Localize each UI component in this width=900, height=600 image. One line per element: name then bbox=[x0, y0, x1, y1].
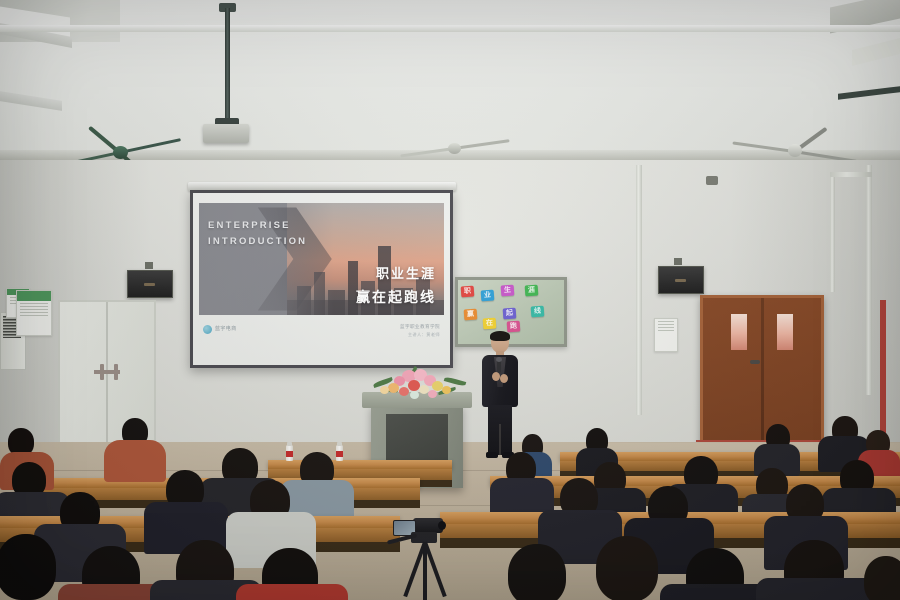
wall-bracket-right bbox=[706, 176, 718, 185]
door-window-right bbox=[777, 314, 793, 350]
presenter bbox=[478, 332, 522, 460]
speaker-bracket-left bbox=[145, 262, 153, 269]
water-bottle bbox=[286, 442, 293, 461]
audience-head bbox=[508, 544, 566, 600]
door-window-left bbox=[731, 314, 747, 350]
cutout-char: 赢 bbox=[464, 309, 478, 321]
ceiling-cornice bbox=[0, 25, 900, 32]
slide-footer-institution: 蓝宇职业教育学院 bbox=[400, 324, 440, 330]
cutout-char: 业 bbox=[481, 290, 495, 302]
door-split-right bbox=[761, 298, 764, 444]
wall-pipe-horizontal bbox=[830, 172, 872, 177]
presenter-hand-right bbox=[500, 374, 508, 383]
door-push-bar bbox=[94, 370, 120, 374]
notice-poster-2 bbox=[16, 290, 52, 336]
screen-surface: ENTERPRISE INTRODUCTION 职业生涯 赢在起跑线 蓝宇电商 … bbox=[193, 193, 450, 365]
cutout-char: 跑 bbox=[507, 321, 521, 333]
wall-pipe-vertical-c bbox=[830, 172, 835, 292]
presenter-hair bbox=[490, 331, 510, 341]
projector-screen: ENTERPRISE INTRODUCTION 职业生涯 赢在起跑线 蓝宇电商 … bbox=[190, 190, 453, 368]
slide-title-en-line2: INTRODUCTION bbox=[208, 236, 307, 247]
notice-poster-3 bbox=[654, 318, 678, 352]
speaker-bracket-right bbox=[674, 258, 682, 265]
water-bottle bbox=[336, 442, 343, 461]
presenter-shoe-left bbox=[486, 452, 498, 458]
cutout-char: 生 bbox=[501, 285, 515, 297]
presentation-slide: ENTERPRISE INTRODUCTION 职业生涯 赢在起跑线 bbox=[199, 203, 444, 315]
camcorder-lens-icon bbox=[438, 521, 446, 530]
brand-logo-icon bbox=[203, 325, 212, 334]
audience-head bbox=[596, 536, 658, 600]
audience-head bbox=[0, 534, 56, 600]
cutout-char: 职 bbox=[461, 286, 475, 298]
audience-head bbox=[864, 556, 900, 600]
slide-title-cn-line1: 职业生涯 bbox=[376, 263, 436, 282]
projector-pole bbox=[225, 8, 230, 124]
presenter-leg-gap bbox=[499, 424, 501, 455]
cutout-char: 在 bbox=[483, 318, 497, 330]
audience-body bbox=[236, 584, 348, 600]
wall-speaker-right bbox=[658, 266, 704, 294]
cutout-char: 涯 bbox=[525, 285, 539, 297]
lecture-hall-photo: ENTERPRISE INTRODUCTION 职业生涯 赢在起跑线 蓝宇电商 … bbox=[0, 0, 900, 600]
cutout-char: 起 bbox=[503, 308, 517, 320]
door-handle-right[interactable] bbox=[750, 360, 760, 364]
microphone-head-icon bbox=[496, 357, 502, 362]
desk-row-back-left bbox=[268, 460, 452, 469]
brand-logo-text: 蓝宇电商 bbox=[215, 325, 237, 332]
fire-pipe-red bbox=[880, 300, 886, 450]
slide-title-en-line1: ENTERPRISE bbox=[208, 220, 291, 231]
cutout-char: 线 bbox=[531, 306, 545, 318]
audience-body bbox=[104, 440, 166, 482]
floral-arrangement bbox=[372, 368, 466, 400]
wooden-double-door[interactable] bbox=[700, 295, 824, 447]
audience-body bbox=[756, 578, 876, 600]
slide-title-cn-line2: 赢在起跑线 bbox=[356, 287, 436, 307]
wall-pipe-vertical-b bbox=[866, 165, 872, 395]
notice-header-bar-2 bbox=[17, 291, 51, 301]
presenter-hand-left bbox=[492, 372, 500, 381]
ceiling-projector bbox=[203, 124, 249, 143]
wall-speaker-left bbox=[127, 270, 173, 298]
wall-pipe-vertical-a bbox=[636, 165, 642, 415]
slide-footer: 蓝宇电商 蓝宇职业教育学院 主讲人：黄老师 bbox=[199, 321, 444, 349]
camcorder-on-tripod bbox=[385, 512, 465, 600]
ceiling-fan-center bbox=[400, 138, 520, 160]
slide-footer-presenter: 主讲人：黄老师 bbox=[408, 332, 440, 338]
